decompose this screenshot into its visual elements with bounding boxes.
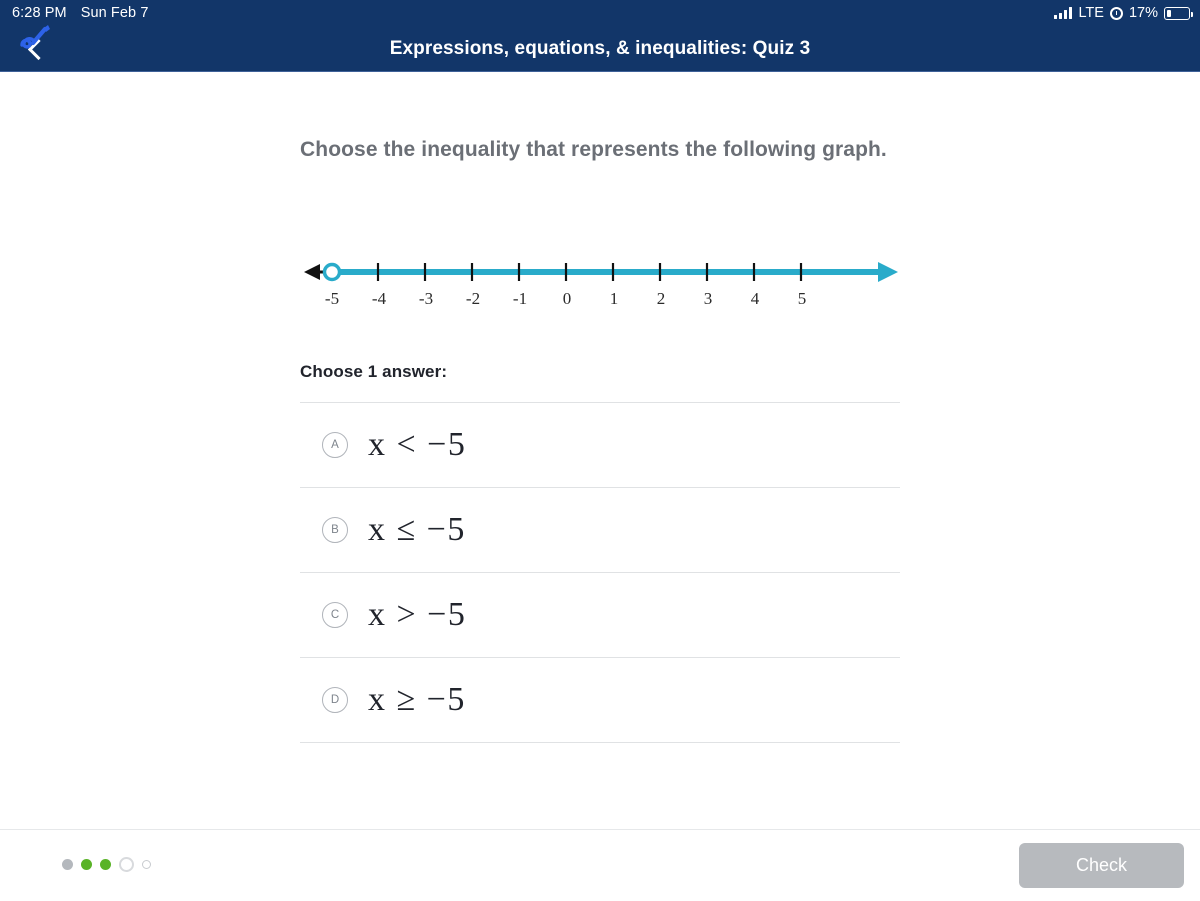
progress-dot-3[interactable] (100, 859, 111, 870)
tick-label: 0 (563, 289, 572, 309)
number-line-tick-labels: -5 -4 -3 -2 -1 0 1 2 3 4 5 (300, 289, 900, 315)
option-math-a: x < −5 (368, 426, 466, 464)
number-line-svg (300, 252, 900, 292)
question-prompt-wrap: Choose the inequality that represents th… (300, 132, 900, 167)
option-divider (300, 742, 900, 743)
status-network: LTE (1078, 5, 1104, 21)
tick-label: -3 (419, 289, 433, 309)
answer-option-a[interactable]: A x < −5 (300, 403, 900, 487)
progress-dot-5[interactable] (142, 860, 151, 869)
option-math-b: x ≤ −5 (368, 511, 466, 549)
battery-icon (1164, 7, 1190, 20)
tick-label: 4 (751, 289, 760, 309)
tick-label: -5 (325, 289, 339, 309)
answer-option-b[interactable]: B x ≤ −5 (300, 488, 900, 572)
progress-dot-4-current[interactable] (119, 857, 134, 872)
choose-answer-label: Choose 1 answer: (300, 362, 447, 382)
status-bar-right: LTE 17% (1054, 5, 1190, 21)
signal-bars-icon (1054, 7, 1072, 19)
option-badge-c: C (322, 602, 348, 628)
tick-label: 3 (704, 289, 713, 309)
tick-label: 1 (610, 289, 619, 309)
alarm-clock-icon (1110, 7, 1123, 20)
progress-dots (62, 857, 151, 872)
app-header: Expressions, equations, & inequalities: … (0, 26, 1200, 72)
option-math-d: x ≥ −5 (368, 681, 466, 719)
option-math-c: x > −5 (368, 596, 466, 634)
question-prompt: Choose the inequality that represents th… (300, 132, 900, 167)
tick-label: 2 (657, 289, 666, 309)
tick-label: -1 (513, 289, 527, 309)
status-date: Sun Feb 7 (81, 5, 149, 21)
progress-dot-2[interactable] (81, 859, 92, 870)
option-badge-a: A (322, 432, 348, 458)
answer-option-d[interactable]: D x ≥ −5 (300, 658, 900, 742)
tick-label: 5 (798, 289, 807, 309)
quiz-screen: 6:28 PM Sun Feb 7 LTE 17% Expressions, e… (0, 0, 1200, 901)
tick-label: -2 (466, 289, 480, 309)
page-title: Expressions, equations, & inequalities: … (390, 38, 811, 60)
option-badge-b: B (322, 517, 348, 543)
option-badge-d: D (322, 687, 348, 713)
scratchpad-pencil-icon[interactable] (16, 17, 54, 55)
number-line-graph: -5 -4 -3 -2 -1 0 1 2 3 4 5 (300, 252, 900, 322)
check-button[interactable]: Check (1019, 843, 1184, 888)
status-bar: 6:28 PM Sun Feb 7 LTE 17% (0, 0, 1200, 26)
open-circle-endpoint (325, 265, 340, 280)
tick-label: -4 (372, 289, 386, 309)
status-battery-percent: 17% (1129, 5, 1158, 21)
answer-options-list: A x < −5 B x ≤ −5 C x > −5 D x ≥ −5 (300, 402, 900, 743)
question-content: Choose the inequality that represents th… (0, 72, 1200, 829)
progress-dot-1[interactable] (62, 859, 73, 870)
answer-option-c[interactable]: C x > −5 (300, 573, 900, 657)
